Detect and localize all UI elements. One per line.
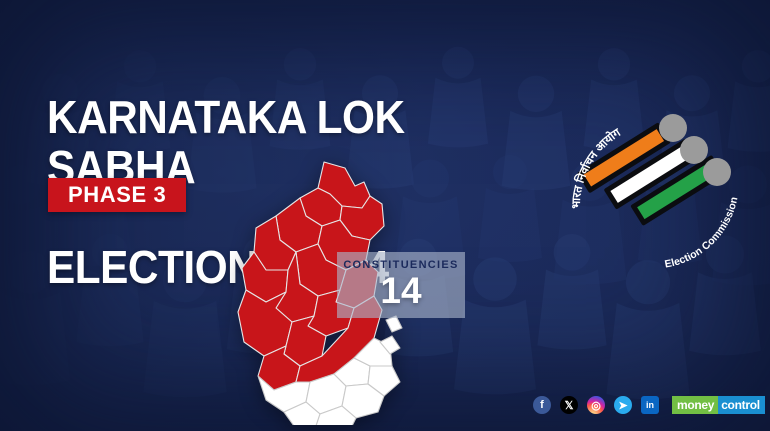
logo-disc-3 [703, 158, 731, 186]
telegram-icon[interactable]: ➤ [614, 396, 632, 414]
social-bar: f 𝕏 ◎ ➤ in moneycontrol [533, 396, 765, 414]
facebook-icon[interactable]: f [533, 396, 551, 414]
moneycontrol-logo[interactable]: moneycontrol [672, 396, 765, 414]
x-icon[interactable]: 𝕏 [560, 396, 578, 414]
phase-badge: PHASE 3 [48, 178, 186, 212]
graphic-canvas: KARNATAKA LOK SABHA ELECTIONS 2024 PHASE… [0, 0, 770, 431]
linkedin-icon[interactable]: in [641, 396, 659, 414]
constituencies-count: 14 [380, 272, 421, 310]
logo-disc-1 [659, 114, 687, 142]
constituencies-panel: CONSTITUENCIES 14 [337, 252, 465, 318]
election-commission-logo: भारत निर्वाचन आयोग Election Commission o… [566, 98, 750, 274]
logo-disc-2 [680, 136, 708, 164]
moneycontrol-control: control [718, 396, 765, 414]
instagram-icon[interactable]: ◎ [587, 396, 605, 414]
moneycontrol-money: money [672, 396, 718, 414]
